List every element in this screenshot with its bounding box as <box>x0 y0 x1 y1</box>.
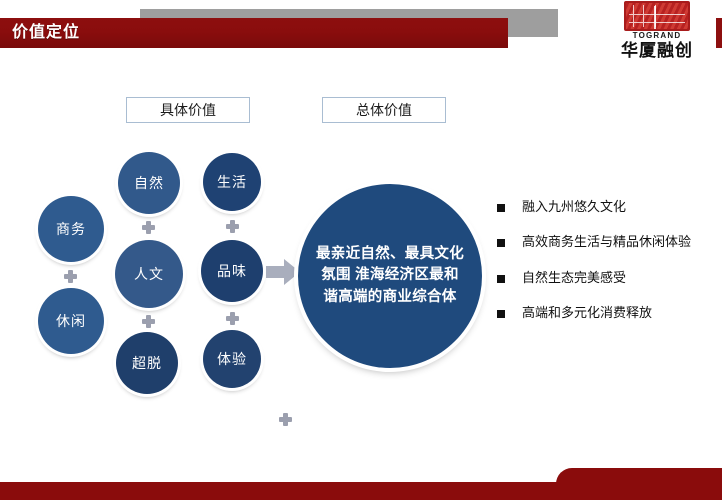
bullet-square-icon <box>497 239 505 247</box>
plus-icon-col3-2 <box>226 312 239 325</box>
plus-icon-col2-2 <box>142 315 155 328</box>
bubble-experience: 体验 <box>203 330 261 388</box>
seal-icon <box>624 1 690 31</box>
logo-chinese-text: 华厦融创 <box>621 42 693 59</box>
benefits-list: 融入九州悠久文化 高效商务生活与精品休闲体验 自然生态完美感受 高端和多元化消费… <box>497 200 719 341</box>
bubble-nature: 自然 <box>118 152 180 214</box>
list-item: 高端和多元化消费释放 <box>497 306 719 320</box>
bubble-leisure-label: 休闲 <box>56 314 86 328</box>
bubble-transcendence-label: 超脱 <box>132 356 162 370</box>
plus-icon-col3-1 <box>226 220 239 233</box>
bubble-business: 商务 <box>38 196 104 262</box>
list-item-label: 自然生态完美感受 <box>522 271 626 285</box>
bullet-square-icon <box>497 204 505 212</box>
page-title: 价值定位 <box>12 25 80 41</box>
bubble-humanity-label: 人文 <box>134 267 164 281</box>
list-item: 融入九州悠久文化 <box>497 200 719 214</box>
right-arrow-icon <box>266 259 300 285</box>
bubble-life: 生活 <box>203 153 261 211</box>
center-value-text: 最亲近自然、最具文化氛围 淮海经济区最和谐高端的商业综合体 <box>315 244 465 307</box>
bubble-transcendence: 超脱 <box>116 332 178 394</box>
bubble-humanity: 人文 <box>115 240 183 308</box>
bubble-leisure: 休闲 <box>38 288 104 354</box>
bubble-taste-label: 品味 <box>217 264 247 278</box>
bubble-nature-label: 自然 <box>134 176 164 190</box>
bubble-business-label: 商务 <box>56 222 86 236</box>
bullet-square-icon <box>497 310 505 318</box>
slide-canvas: 价值定位 TOGRAND 华厦融创 具体价值 总体价值 商务 休闲 自然 人文 … <box>0 0 722 500</box>
footer-bar-right-raised <box>556 468 722 500</box>
plus-icon-stray <box>279 413 292 426</box>
bullet-square-icon <box>497 275 505 283</box>
bubble-taste: 品味 <box>201 240 263 302</box>
list-item-label: 高端和多元化消费释放 <box>522 306 652 320</box>
plus-icon-col1-1 <box>64 270 77 283</box>
bubble-life-label: 生活 <box>217 175 247 189</box>
list-item: 高效商务生活与精品休闲体验 <box>497 235 719 249</box>
plus-icon-col2-1 <box>142 221 155 234</box>
footer-notch <box>540 468 558 482</box>
header-red-bar: 价值定位 <box>0 18 508 48</box>
caption-overall-value: 总体价值 <box>322 97 446 123</box>
arrow-shaft <box>266 266 286 278</box>
caption-specific-value: 具体价值 <box>126 97 250 123</box>
center-value-circle: 最亲近自然、最具文化氛围 淮海经济区最和谐高端的商业综合体 <box>298 184 482 368</box>
company-logo: TOGRAND 华厦融创 <box>598 1 716 59</box>
list-item: 自然生态完美感受 <box>497 271 719 285</box>
bubble-experience-label: 体验 <box>217 352 247 366</box>
header-red-right-stub <box>716 18 722 48</box>
list-item-label: 高效商务生活与精品休闲体验 <box>522 235 691 249</box>
logo-english-text: TOGRAND <box>633 32 682 40</box>
list-item-label: 融入九州悠久文化 <box>522 200 626 214</box>
